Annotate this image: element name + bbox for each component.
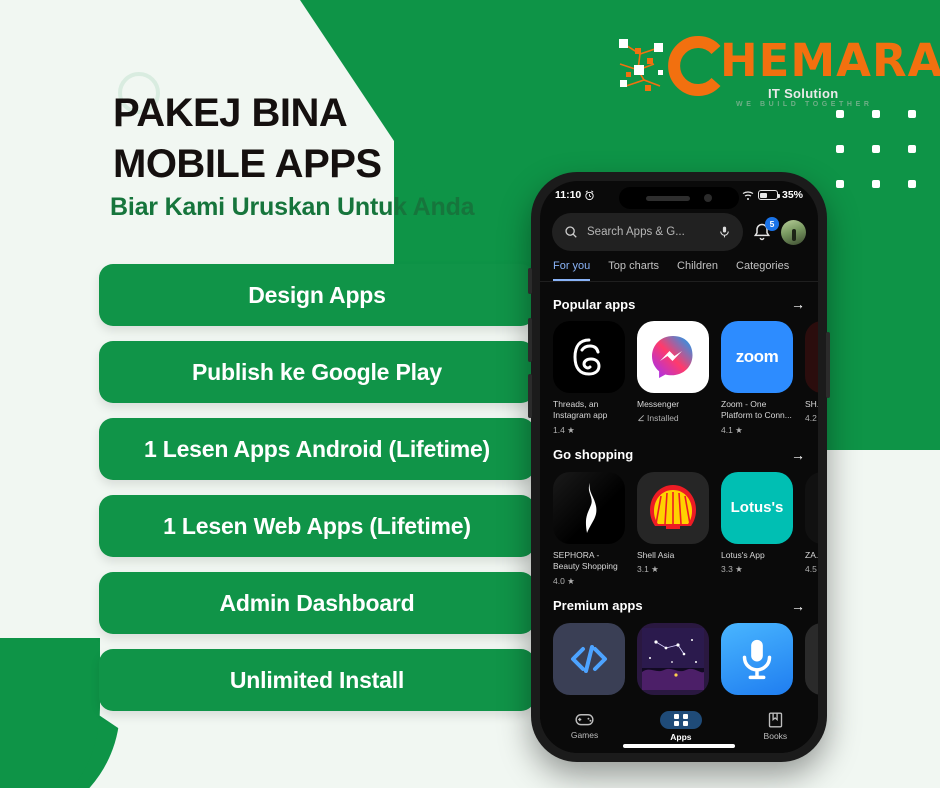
section-arrow-icon[interactable]: → xyxy=(791,598,805,614)
search-bar[interactable]: Search Apps & G... xyxy=(552,213,743,251)
app-card[interactable]: SEPHORA - Beauty Shopping 4.0 ★ xyxy=(553,472,625,587)
star-map-app-icon xyxy=(637,623,709,695)
lotuss-wordmark: Lotus's xyxy=(731,499,784,516)
partial-app-icon xyxy=(805,472,818,544)
sephora-flame-icon xyxy=(579,481,599,535)
feature-item-3[interactable]: 1 Lesen Apps Android (Lifetime) xyxy=(99,418,535,480)
battery-level: 35% xyxy=(782,189,803,201)
nav-item-apps[interactable]: Apps xyxy=(660,711,702,742)
feature-item-2[interactable]: Publish ke Google Play xyxy=(99,341,535,403)
app-name: SEPHORA - Beauty Shopping xyxy=(553,550,625,573)
app-install-status: Installed xyxy=(637,413,709,423)
hero-title: PAKEJ BINA MOBILE APPS xyxy=(113,88,382,190)
app-name: ZA... Fa... xyxy=(805,550,818,561)
home-indicator[interactable] xyxy=(623,744,735,748)
section-arrow-icon[interactable]: → xyxy=(791,447,805,463)
section-popular-apps: Popular apps → Threads, an Instagram xyxy=(540,285,818,436)
feature-item-5[interactable]: Admin Dashboard xyxy=(99,572,535,634)
app-name: Zoom - One Platform to Conn... xyxy=(721,399,793,422)
phone-power-button[interactable] xyxy=(826,332,830,398)
app-rating: 3.1 ★ xyxy=(637,564,709,575)
feature-item-6[interactable]: Unlimited Install xyxy=(99,649,535,711)
app-card[interactable] xyxy=(553,623,625,695)
section-title: Popular apps xyxy=(553,297,635,312)
app-card[interactable]: ZA... Fa... 4.5 xyxy=(805,472,818,587)
phone-screen: 11:10 35% xyxy=(540,181,818,753)
app-rating: 4.0 ★ xyxy=(553,576,625,587)
zoom-wordmark: zoom xyxy=(736,347,778,367)
feature-item-4[interactable]: 1 Lesen Web Apps (Lifetime) xyxy=(99,495,535,557)
book-icon xyxy=(768,712,783,728)
logo-subtitle: IT Solution xyxy=(768,86,838,101)
section-premium-apps: Premium apps → xyxy=(540,587,818,695)
app-card[interactable] xyxy=(721,623,793,695)
installed-icon xyxy=(637,414,645,422)
hero-title-line2: MOBILE APPS xyxy=(113,139,382,190)
zoom-app-icon: zoom xyxy=(721,321,793,393)
status-bar: 11:10 35% xyxy=(540,181,818,209)
background-shape-bottom-left-blob xyxy=(0,638,100,788)
phone-mute-switch[interactable] xyxy=(528,268,532,294)
messenger-glyph-icon xyxy=(648,332,698,382)
logo-wordmark: HEMARA xyxy=(720,38,940,83)
phone-volume-down-button[interactable] xyxy=(528,374,532,418)
partial-app-icon xyxy=(805,623,818,695)
partial-app-icon: B xyxy=(805,321,818,393)
app-name: Shell Asia xyxy=(637,550,709,561)
category-tabs: For you Top charts Children Categories xyxy=(540,251,818,282)
apps-grid-icon xyxy=(673,713,689,727)
nav-label: Games xyxy=(571,730,598,740)
night-sky-icon xyxy=(642,628,704,690)
app-rating: 3.3 ★ xyxy=(721,564,793,575)
logo-tagline: WE BUILD TOGETHER xyxy=(736,101,873,108)
shell-app-icon xyxy=(637,472,709,544)
microphone-icon[interactable] xyxy=(718,225,731,239)
app-name: Lotus's App xyxy=(721,550,793,561)
code-editor-app-icon xyxy=(553,623,625,695)
nav-item-books[interactable]: Books xyxy=(764,712,788,741)
app-rating: 1.4 ★ xyxy=(553,425,625,436)
notifications-button[interactable]: 5 xyxy=(752,222,772,242)
section-arrow-icon[interactable]: → xyxy=(791,296,805,312)
section-title: Go shopping xyxy=(553,447,633,462)
threads-app-icon xyxy=(553,321,625,393)
wifi-icon xyxy=(742,190,754,201)
chemara-logo: HEMARA IT Solution WE BUILD TOGETHER xyxy=(608,26,874,110)
nav-label: Books xyxy=(764,731,788,741)
notification-badge: 5 xyxy=(765,217,779,231)
tab-categories[interactable]: Categories xyxy=(736,260,789,281)
threads-glyph-icon xyxy=(565,333,613,381)
app-card[interactable] xyxy=(637,623,709,695)
sephora-app-icon xyxy=(553,472,625,544)
app-rating: 4.5 xyxy=(805,564,818,574)
tab-top-charts[interactable]: Top charts xyxy=(608,260,659,281)
search-row: Search Apps & G... 5 xyxy=(540,209,818,251)
hero-title-line1: PAKEJ BINA xyxy=(113,88,382,139)
section-go-shopping: Go shopping → SEPHORA - Beauty Shopping … xyxy=(540,436,818,587)
code-brackets-icon xyxy=(569,639,609,679)
logo-letter-c-icon xyxy=(660,32,728,100)
app-name: SH... On... xyxy=(805,399,818,410)
promo-poster: HEMARA IT Solution WE BUILD TOGETHER PAK… xyxy=(0,0,940,788)
app-card[interactable]: zoom Zoom - One Platform to Conn... 4.1 … xyxy=(721,321,793,436)
app-card[interactable]: Messenger Installed xyxy=(637,321,709,436)
tab-children[interactable]: Children xyxy=(677,260,718,281)
status-time: 11:10 xyxy=(555,189,581,201)
hero-subtitle: Biar Kami Uruskan Untuk Anda xyxy=(110,193,474,222)
phone-volume-up-button[interactable] xyxy=(528,318,532,362)
dot-grid-decoration xyxy=(836,110,940,188)
alarm-icon xyxy=(584,190,595,201)
search-input[interactable]: Search Apps & G... xyxy=(587,226,709,238)
app-rating: 4.2 xyxy=(805,413,818,423)
feature-list: Design Apps Publish ke Google Play 1 Les… xyxy=(99,264,535,726)
gamepad-icon xyxy=(575,712,594,727)
app-card[interactable] xyxy=(805,623,818,695)
lotuss-app-icon: Lotus's xyxy=(721,472,793,544)
shell-glyph-icon xyxy=(644,479,702,537)
phone-mockup: 11:10 35% xyxy=(531,172,827,762)
app-card[interactable]: Threads, an Instagram app 1.4 ★ xyxy=(553,321,625,436)
microphone-glyph-icon xyxy=(737,637,777,681)
app-name: Threads, an Instagram app xyxy=(553,399,625,422)
messenger-app-icon xyxy=(637,321,709,393)
store-content: Popular apps → Threads, an Instagram xyxy=(540,285,818,707)
avatar[interactable] xyxy=(781,220,806,245)
app-card[interactable]: Shell Asia 3.1 ★ xyxy=(637,472,709,587)
app-rating: 4.1 ★ xyxy=(721,425,793,436)
nav-item-games[interactable]: Games xyxy=(571,712,598,740)
active-nav-pill xyxy=(660,711,702,729)
feature-item-1[interactable]: Design Apps xyxy=(99,264,535,326)
app-card[interactable]: B SH... On... 4.2 xyxy=(805,321,818,436)
section-title: Premium apps xyxy=(553,598,643,613)
battery-icon xyxy=(758,190,778,200)
tab-for-you[interactable]: For you xyxy=(553,260,590,281)
nav-label: Apps xyxy=(670,732,691,742)
app-name: Messenger xyxy=(637,399,709,410)
app-card[interactable]: Lotus's Lotus's App 3.3 ★ xyxy=(721,472,793,587)
voice-recorder-app-icon xyxy=(721,623,793,695)
search-icon xyxy=(564,225,578,239)
